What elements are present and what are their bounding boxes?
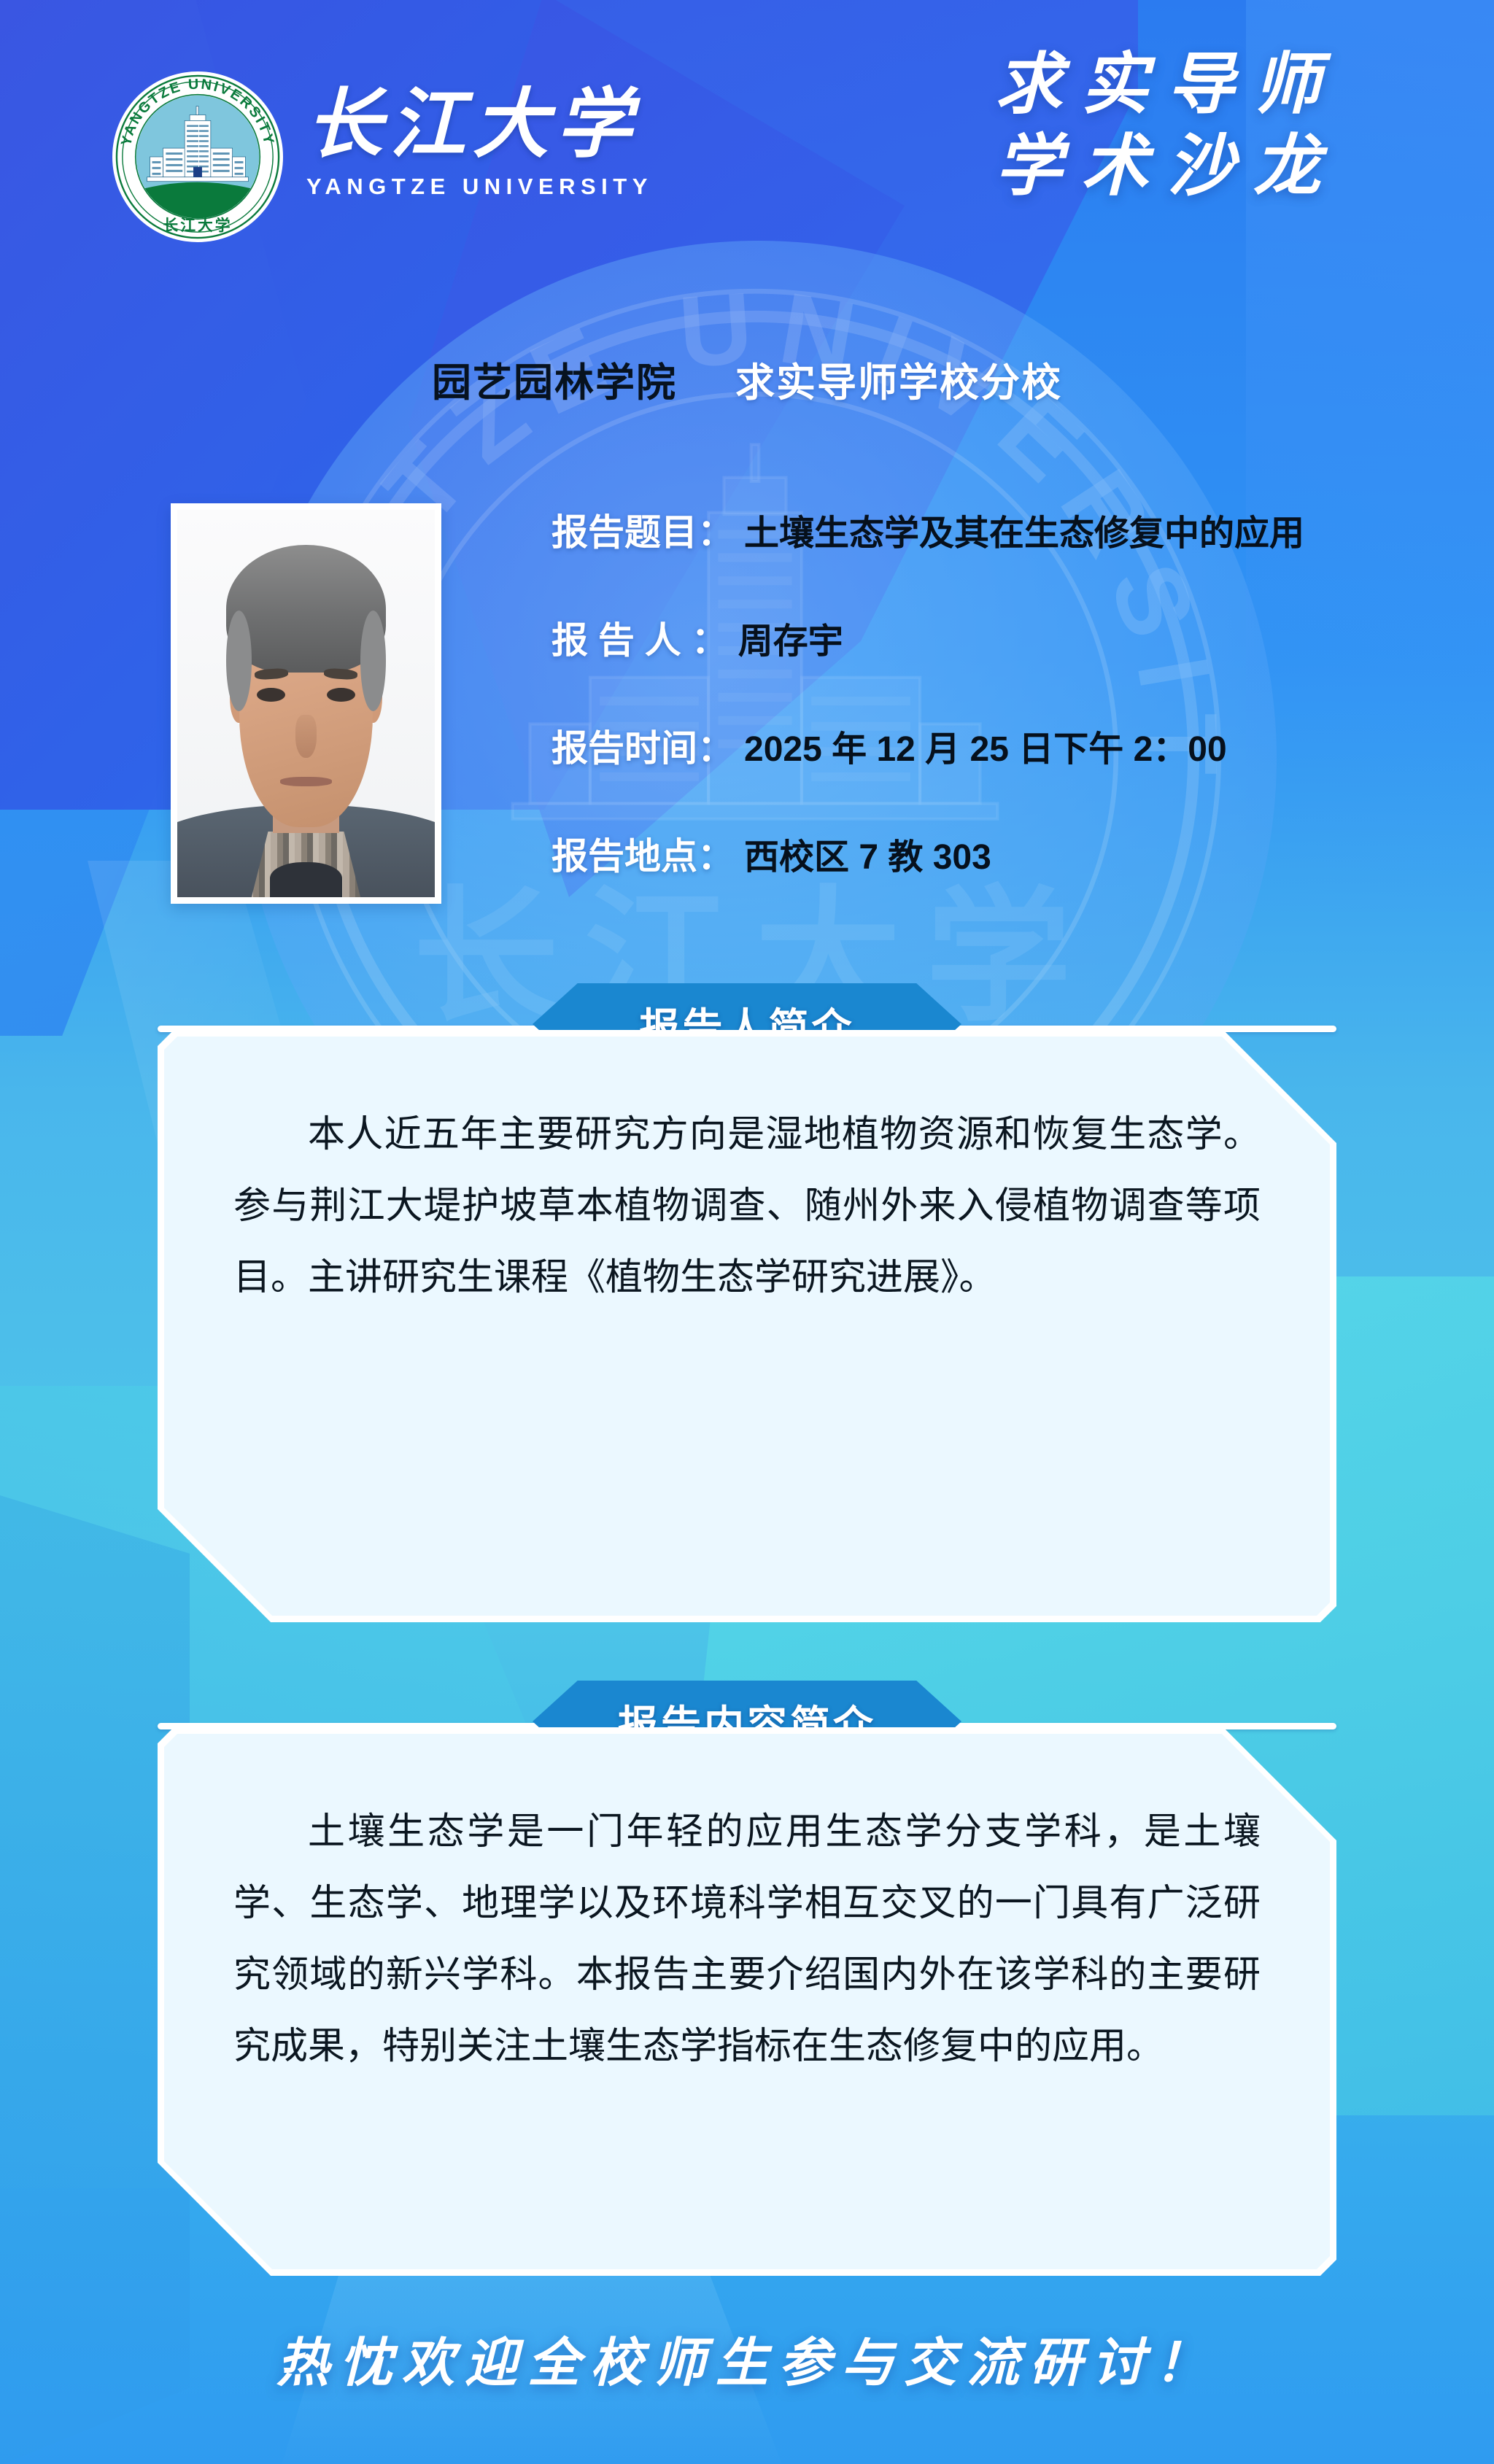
portrait-mouth bbox=[280, 777, 332, 786]
info-row-title: 报告题目： 土壤生态学及其在生态修复中的应用 bbox=[551, 503, 1449, 556]
portrait-nose bbox=[295, 715, 316, 757]
content-box-body-speaker-bio: 本人近五年主要研究方向是湿地植物资源和恢复生态学。参与荆江大堤护坡草本植物调查、… bbox=[158, 1030, 1336, 1380]
content-box-body-talk-abstract: 土壤生态学是一门年轻的应用生态学分支学科，是土壤学、生态学、地理学以及环境科学相… bbox=[158, 1727, 1336, 2149]
portrait-inner-collar bbox=[270, 862, 342, 897]
content-box-talk-abstract: 土壤生态学是一门年轻的应用生态学分支学科，是土壤学、生态学、地理学以及环境科学相… bbox=[158, 1727, 1336, 2276]
info-label-speaker: 报 告 人 ： bbox=[551, 611, 728, 664]
salon-title: 求实导师 学术沙龙 bbox=[941, 44, 1393, 207]
portrait-eye-right bbox=[327, 688, 355, 702]
content-box-speaker-bio: 本人近五年主要研究方向是湿地植物资源和恢复生态学。参与荆江大堤护坡草本植物调查、… bbox=[158, 1030, 1336, 1622]
info-row-location: 报告地点： 西校区 7 教 303 bbox=[551, 827, 1449, 880]
info-value-time: 2025 年 12 月 25 日下午 2：00 bbox=[744, 720, 1227, 771]
university-seal-icon: YANGTZE UNIVERSITY 长江大学 bbox=[111, 70, 285, 244]
university-name-en: YANGTZE UNIVERSITY bbox=[306, 174, 657, 200]
info-label-location: 报告地点： bbox=[551, 827, 734, 880]
salon-title-line2: 学术沙龙 bbox=[941, 125, 1393, 207]
speaker-bio-text: 本人近五年主要研究方向是湿地植物资源和恢复生态学。参与荆江大堤护坡草本植物调查、… bbox=[233, 1100, 1261, 1314]
university-name-cn: 长江大学 bbox=[306, 88, 657, 163]
subtitle-row: 园艺园林学院 求实导师学校分校 bbox=[0, 350, 1494, 408]
subtitle-college: 园艺园林学院 bbox=[432, 361, 677, 405]
info-value-location: 西校区 7 教 303 bbox=[744, 828, 991, 879]
talk-abstract-text: 土壤生态学是一门年轻的应用生态学分支学科，是土壤学、生态学、地理学以及环境科学相… bbox=[233, 1797, 1261, 2083]
subtitle-branch: 求实导师学校分校 bbox=[735, 361, 1062, 405]
university-name: 长江大学 YANGTZE UNIVERSITY bbox=[306, 88, 657, 200]
info-value-title: 土壤生态学及其在生态修复中的应用 bbox=[744, 504, 1304, 555]
info-value-speaker: 周存宇 bbox=[738, 612, 843, 663]
portrait-hair-side-right bbox=[360, 611, 386, 711]
svg-text:长江大学: 长江大学 bbox=[163, 217, 232, 234]
poster-root: YANGTZE UNIVERSITY bbox=[0, 0, 1494, 2464]
salon-title-line1: 求实导师 bbox=[941, 44, 1393, 125]
speaker-photo bbox=[171, 503, 441, 904]
footer-welcome: 热忱欢迎全校师生参与交流研讨！ bbox=[0, 2320, 1494, 2396]
talk-info-list: 报告题目： 土壤生态学及其在生态修复中的应用 报 告 人 ： 周存宇 报告时间：… bbox=[551, 503, 1449, 880]
info-label-title: 报告题目： bbox=[551, 503, 734, 556]
info-row-speaker: 报 告 人 ： 周存宇 bbox=[551, 611, 1449, 664]
header: YANGTZE UNIVERSITY 长江大学 长江大学 YANGTZE UNI… bbox=[0, 0, 1494, 306]
info-label-time: 报告时间： bbox=[551, 719, 734, 772]
speaker-photo-inner bbox=[177, 510, 435, 897]
info-row-time: 报告时间： 2025 年 12 月 25 日下午 2：00 bbox=[551, 719, 1449, 772]
